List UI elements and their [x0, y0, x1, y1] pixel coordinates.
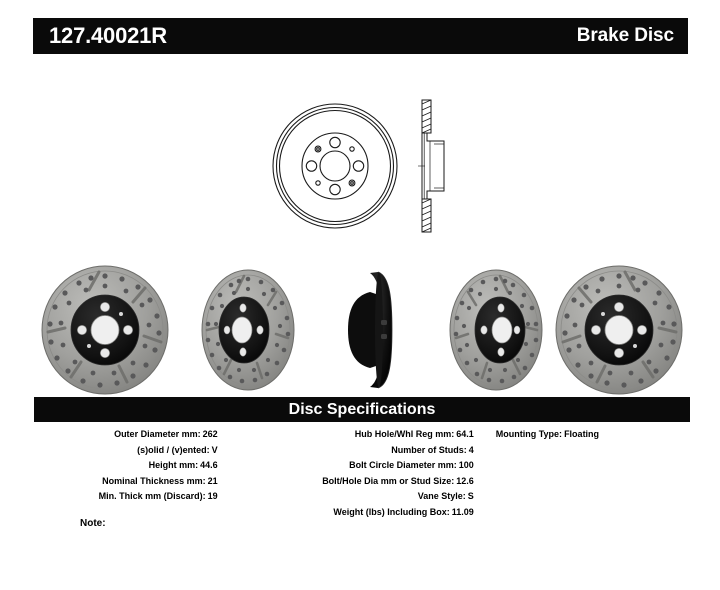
note-label: Note:	[80, 518, 106, 529]
spec-row: Hub Hole/Whl Reg mm:64.1	[218, 427, 474, 443]
spec-row: Weight (lbs) Including Box:11.09	[218, 505, 474, 521]
spec-value: 21	[208, 476, 218, 486]
spec-label: Hub Hole/Whl Reg mm:	[355, 429, 455, 439]
spec-label: Vane Style:	[418, 491, 466, 501]
rotor-photo-front-left	[34, 262, 176, 397]
spec-row: Min. Thick mm (Discard):19	[34, 489, 218, 505]
lug-hole	[330, 137, 340, 147]
rotor-photo-edge	[336, 266, 408, 394]
alignment-hole	[349, 180, 355, 186]
disc-specifications-bar: Disc Specifications	[34, 397, 690, 422]
spec-label: Height mm:	[149, 460, 199, 470]
rotor-photo-front-right	[548, 262, 690, 397]
spec-column-mounting-dimensions: Hub Hole/Whl Reg mm:64.1Number of Studs:…	[218, 427, 474, 520]
alignment-hole-inner	[317, 148, 320, 151]
rotor-hat-outline	[302, 133, 368, 199]
product-photo-row	[26, 262, 698, 397]
spec-value: 11.09	[452, 507, 474, 517]
spec-row: (s)olid / (v)ented:V	[34, 443, 218, 459]
spec-value: 44.6	[200, 460, 218, 470]
part-number: 127.40021R	[49, 23, 167, 49]
product-type-label: Brake Disc	[577, 25, 674, 47]
spec-value: 19	[208, 491, 218, 501]
spec-row: Outer Diameter mm:262	[34, 427, 218, 443]
rotor-outer-edge-inner	[277, 108, 394, 225]
alignment-hole	[350, 147, 354, 151]
spec-label: (s)olid / (v)ented:	[137, 445, 210, 455]
technical-drawing-svg	[272, 86, 462, 246]
spec-value: 64.1	[456, 429, 474, 439]
spec-label: Nominal Thickness mm:	[102, 476, 206, 486]
spec-label: Bolt/Hole Dia mm or Stud Size:	[322, 476, 454, 486]
spec-row: Bolt/Hole Dia mm or Stud Size:12.6	[218, 474, 474, 490]
spec-row: Number of Studs:4	[218, 443, 474, 459]
spec-label: Weight (lbs) Including Box:	[333, 507, 449, 517]
spec-column-mounting-type: Mounting Type:Floating	[474, 427, 690, 520]
rotor-friction-edge	[280, 111, 391, 222]
rotor-outer-edge	[273, 104, 397, 228]
technical-drawing	[272, 86, 462, 246]
spec-row: Nominal Thickness mm:21	[34, 474, 218, 490]
spec-row: Mounting Type:Floating	[496, 427, 690, 443]
lug-hole	[306, 161, 316, 171]
spec-row: Vane Style:S	[218, 489, 474, 505]
alignment-hole	[315, 146, 321, 152]
spec-value: 12.6	[456, 476, 474, 486]
spec-value: 100	[459, 460, 474, 470]
spec-label: Number of Studs:	[391, 445, 467, 455]
spec-label: Outer Diameter mm:	[114, 429, 201, 439]
header-bar: 127.40021R Brake Disc	[33, 18, 688, 54]
alignment-hole-inner	[351, 182, 354, 185]
specifications-table: Outer Diameter mm:262(s)olid / (v)ented:…	[34, 427, 690, 520]
rotor-photo-angled-left	[186, 268, 306, 393]
disc-specifications-title: Disc Specifications	[289, 401, 436, 419]
lug-hole	[353, 161, 363, 171]
spec-row: Height mm:44.6	[34, 458, 218, 474]
rotor-photo-angled-right	[438, 268, 558, 393]
rotor-cross-section-drawing	[418, 100, 444, 232]
spec-label: Min. Thick mm (Discard):	[99, 491, 206, 501]
note-area: Note:	[80, 518, 106, 529]
hub-bore	[320, 151, 350, 181]
spec-row: Bolt Circle Diameter mm:100	[218, 458, 474, 474]
spec-label: Bolt Circle Diameter mm:	[349, 460, 457, 470]
spec-column-dimensions: Outer Diameter mm:262(s)olid / (v)ented:…	[34, 427, 218, 520]
alignment-hole	[316, 181, 320, 185]
spec-label: Mounting Type:	[496, 429, 562, 439]
spec-value: 262	[203, 429, 218, 439]
spec-value: Floating	[564, 429, 599, 439]
lug-hole	[330, 184, 340, 194]
